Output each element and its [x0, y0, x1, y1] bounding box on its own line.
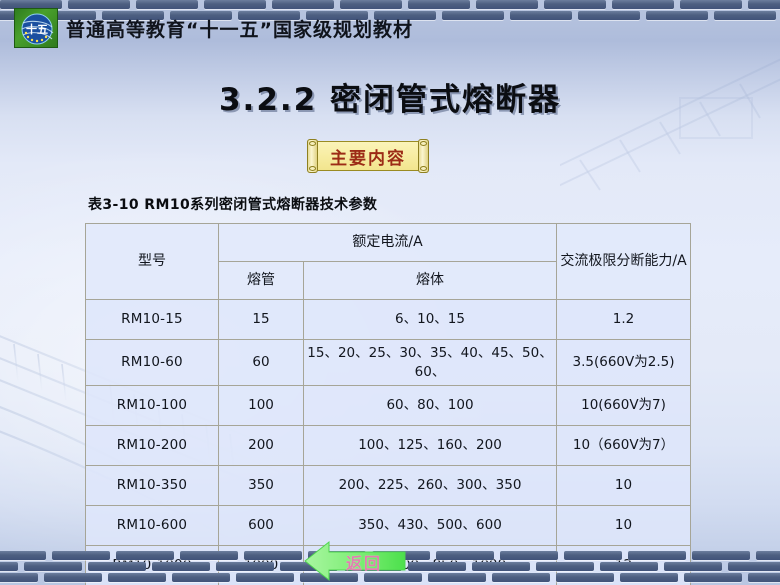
cell-model: RM10-15	[86, 300, 219, 340]
cell-breaking-capacity: 10（660V为7）	[557, 426, 691, 466]
brick	[0, 573, 38, 582]
brick	[680, 0, 742, 9]
brick	[476, 0, 538, 9]
table-header-row-1: 型号 额定电流/A 交流极限分断能力/A	[86, 224, 691, 262]
brick	[0, 551, 46, 560]
brick	[692, 551, 750, 560]
brick	[544, 0, 606, 9]
table-caption: 表3-10 RM10系列密闭管式熔断器技术参数	[88, 194, 377, 214]
table-row: RM10-606015、20、25、30、35、40、45、50、60、3.5(…	[86, 340, 691, 386]
course-banner-title: 普通高等教育“十一五”国家级规划教材	[66, 15, 413, 42]
bridge-watermark-right	[560, 40, 780, 220]
brick	[272, 0, 334, 9]
brick	[748, 0, 780, 9]
cell-breaking-capacity: 12	[557, 546, 691, 585]
header-bar: 十五 普通高等教育“十一五”国家级规划教材	[0, 11, 780, 45]
shiyiwu-globe-logo: 十五	[14, 8, 58, 48]
brick	[136, 0, 198, 9]
page-title: 3.2.2 密闭管式熔断器	[0, 74, 780, 119]
cell-model: RM10-60	[86, 340, 219, 386]
cell-fuse-tube: 200	[219, 426, 304, 466]
cell-breaking-capacity: 1.2	[557, 300, 691, 340]
cell-fuse-tube: 100	[219, 386, 304, 426]
table-row: RM10-10010060、80、10010(660V为7)	[86, 386, 691, 426]
left-arrow-icon[interactable]	[303, 540, 407, 582]
cell-fuse-element: 200、225、260、300、350	[304, 466, 557, 506]
main-content-scroll-banner[interactable]: 主要内容	[307, 139, 429, 173]
brick	[24, 562, 82, 571]
cell-model: RM10-600	[86, 506, 219, 546]
cell-fuse-tube: 1000	[219, 546, 304, 585]
brick	[612, 0, 674, 9]
th-fuse-element: 熔体	[304, 262, 557, 300]
cell-breaking-capacity: 10	[557, 506, 691, 546]
brick	[0, 562, 18, 571]
brick	[408, 0, 470, 9]
cell-fuse-element: 60、80、100	[304, 386, 557, 426]
brick	[748, 573, 780, 582]
brick	[204, 0, 266, 9]
scroll-banner-label: 主要内容	[330, 144, 406, 169]
table-row: RM10-350350200、225、260、300、35010	[86, 466, 691, 506]
th-breaking-capacity: 交流极限分断能力/A	[557, 224, 691, 300]
cell-model: RM10-100	[86, 386, 219, 426]
cell-breaking-capacity: 3.5(660V为2.5)	[557, 340, 691, 386]
cell-fuse-tube: 15	[219, 300, 304, 340]
cell-breaking-capacity: 10	[557, 466, 691, 506]
return-button[interactable]: 返回	[303, 540, 407, 582]
slide-canvas: 十五 普通高等教育“十一五”国家级规划教材 3.2.2 密闭管式熔断器 主要内容…	[0, 0, 780, 585]
scroll-body: 主要内容	[315, 141, 421, 171]
cell-breaking-capacity: 10(660V为7)	[557, 386, 691, 426]
cell-fuse-element: 6、10、15	[304, 300, 557, 340]
cell-fuse-tube: 600	[219, 506, 304, 546]
cell-fuse-tube: 350	[219, 466, 304, 506]
cell-model: RM10-1000	[86, 546, 219, 585]
brick	[756, 551, 780, 560]
scroll-roll-right	[418, 139, 429, 173]
brick	[340, 0, 402, 9]
brick	[68, 0, 130, 9]
cell-model: RM10-350	[86, 466, 219, 506]
table-row: RM10-15156、10、151.2	[86, 300, 691, 340]
th-fuse-tube: 熔管	[219, 262, 304, 300]
scroll-roll-left	[307, 139, 318, 173]
th-rated-current-group: 额定电流/A	[219, 224, 557, 262]
table-row: RM10-200200100、125、160、20010（660V为7）	[86, 426, 691, 466]
fuse-specs-table: 型号 额定电流/A 交流极限分断能力/A 熔管 熔体 RM10-15156、10…	[85, 223, 691, 585]
cell-fuse-element: 100、125、160、200	[304, 426, 557, 466]
brick	[728, 562, 780, 571]
th-model: 型号	[86, 224, 219, 300]
table-header: 型号 额定电流/A 交流极限分断能力/A 熔管 熔体	[86, 224, 691, 300]
cell-model: RM10-200	[86, 426, 219, 466]
svg-text:十五: 十五	[26, 22, 48, 36]
cell-fuse-tube: 60	[219, 340, 304, 386]
cell-fuse-element: 15、20、25、30、35、40、45、50、60、	[304, 340, 557, 386]
brick	[684, 573, 742, 582]
brick-row	[0, 0, 780, 11]
